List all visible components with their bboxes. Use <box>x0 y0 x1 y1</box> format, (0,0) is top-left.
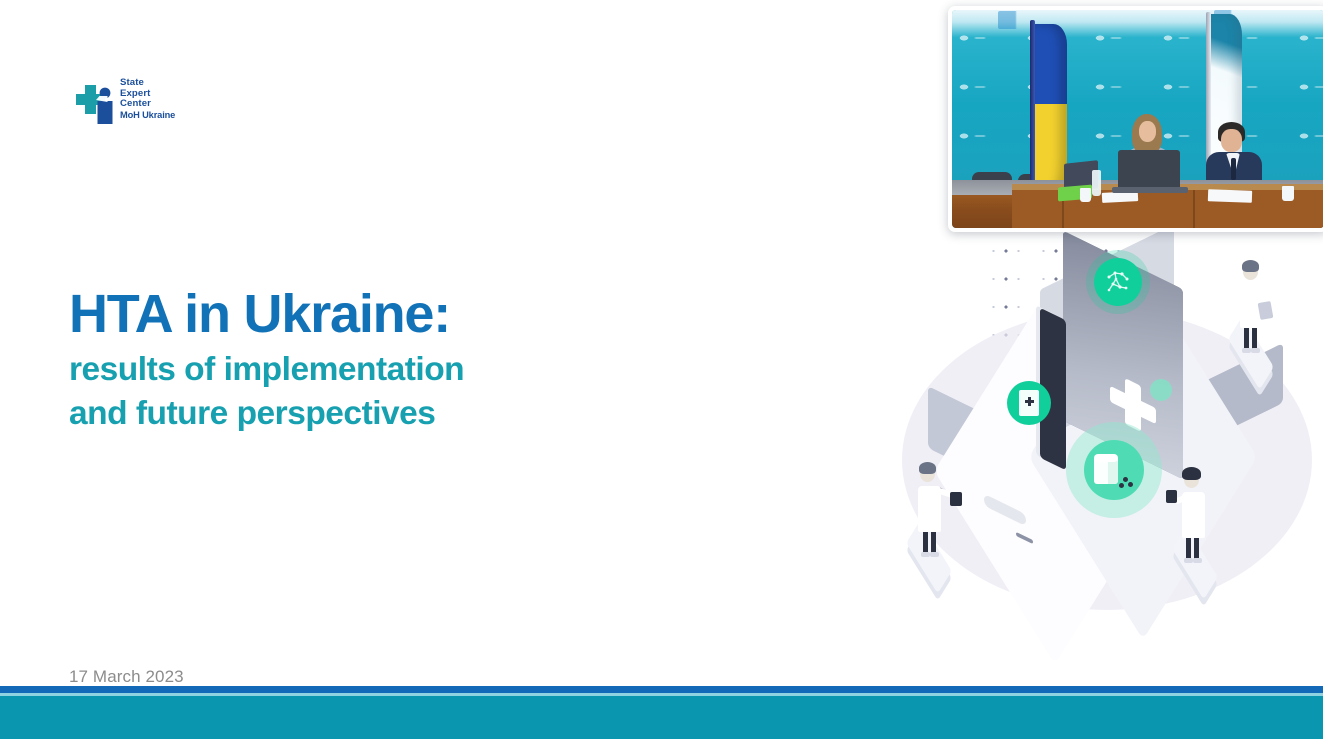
pill-dot <box>1128 482 1133 487</box>
medical-cross-with-person-icon <box>72 82 120 124</box>
figure-shoe <box>1242 348 1251 353</box>
flag-cloth <box>1033 24 1067 194</box>
laptop-icon <box>1118 150 1180 190</box>
paper-cup-icon <box>1080 188 1091 202</box>
doctor-with-device-icon <box>1156 454 1236 580</box>
subtitle-line-1: results of implementation <box>69 348 464 392</box>
figure-leg <box>1244 326 1249 350</box>
logo-line-4: MoH Ukraine <box>120 110 175 121</box>
laptop-base <box>1112 187 1188 193</box>
figure-leg <box>923 530 928 554</box>
subtitle-line-2: and future perspectives <box>69 392 464 436</box>
accent-dot-icon <box>1150 379 1172 401</box>
presenter-face <box>1221 129 1242 152</box>
video-frame[interactable] <box>952 10 1323 228</box>
figure-leg <box>1186 536 1191 560</box>
flag-pole <box>1030 20 1035 196</box>
pill-dot <box>1119 483 1124 488</box>
figure-hair <box>1182 467 1201 480</box>
slide-headline: HTA in Ukraine: results of implementatio… <box>69 287 464 436</box>
document-cross-glyph <box>1025 397 1034 406</box>
page-title: HTA in Ukraine: <box>69 287 464 341</box>
water-bottle-icon <box>1092 170 1101 196</box>
clipboard-icon <box>1258 301 1274 320</box>
doctor-with-tablet-icon <box>896 448 976 574</box>
paper-cup-icon <box>1282 186 1294 201</box>
figure-hair <box>919 462 936 474</box>
figure-shoe <box>921 552 930 557</box>
organization-logo-text: State Expert Center MoH Ukraine <box>120 78 175 120</box>
figure-hair <box>1242 260 1259 272</box>
figure-leg <box>1194 536 1199 560</box>
webcam-video-feed[interactable] <box>948 6 1323 232</box>
molecule-glyph <box>1104 268 1132 296</box>
pill-bottle-shade <box>1108 460 1118 484</box>
slide-date: 17 March 2023 <box>69 667 184 687</box>
figure-shoe <box>930 552 939 557</box>
footer-band-teal <box>0 696 1323 739</box>
figure-shoe <box>1184 558 1193 563</box>
figure-leg <box>931 530 936 554</box>
footer-band-blue <box>0 686 1323 693</box>
slide-subtitle: results of implementation and future per… <box>69 348 464 436</box>
organization-logo: State Expert Center MoH Ukraine <box>72 78 192 130</box>
handheld-device-icon <box>1166 490 1177 503</box>
presenter-tie <box>1231 158 1236 180</box>
logo-line-1: State <box>120 78 175 89</box>
figure-shoe <box>1193 558 1202 563</box>
doctor-with-clipboard-icon <box>1218 248 1288 368</box>
figure-shoe <box>1251 348 1260 353</box>
pill-dot <box>1123 477 1128 482</box>
logo-line-3: Center <box>120 99 175 110</box>
presenter-face <box>1139 121 1156 142</box>
handheld-device-icon <box>950 492 962 506</box>
figure-leg <box>1252 326 1257 350</box>
papers-icon <box>1208 189 1252 203</box>
pill-bottle-cap <box>1094 454 1118 462</box>
isometric-digital-health-illustration <box>888 232 1323 622</box>
